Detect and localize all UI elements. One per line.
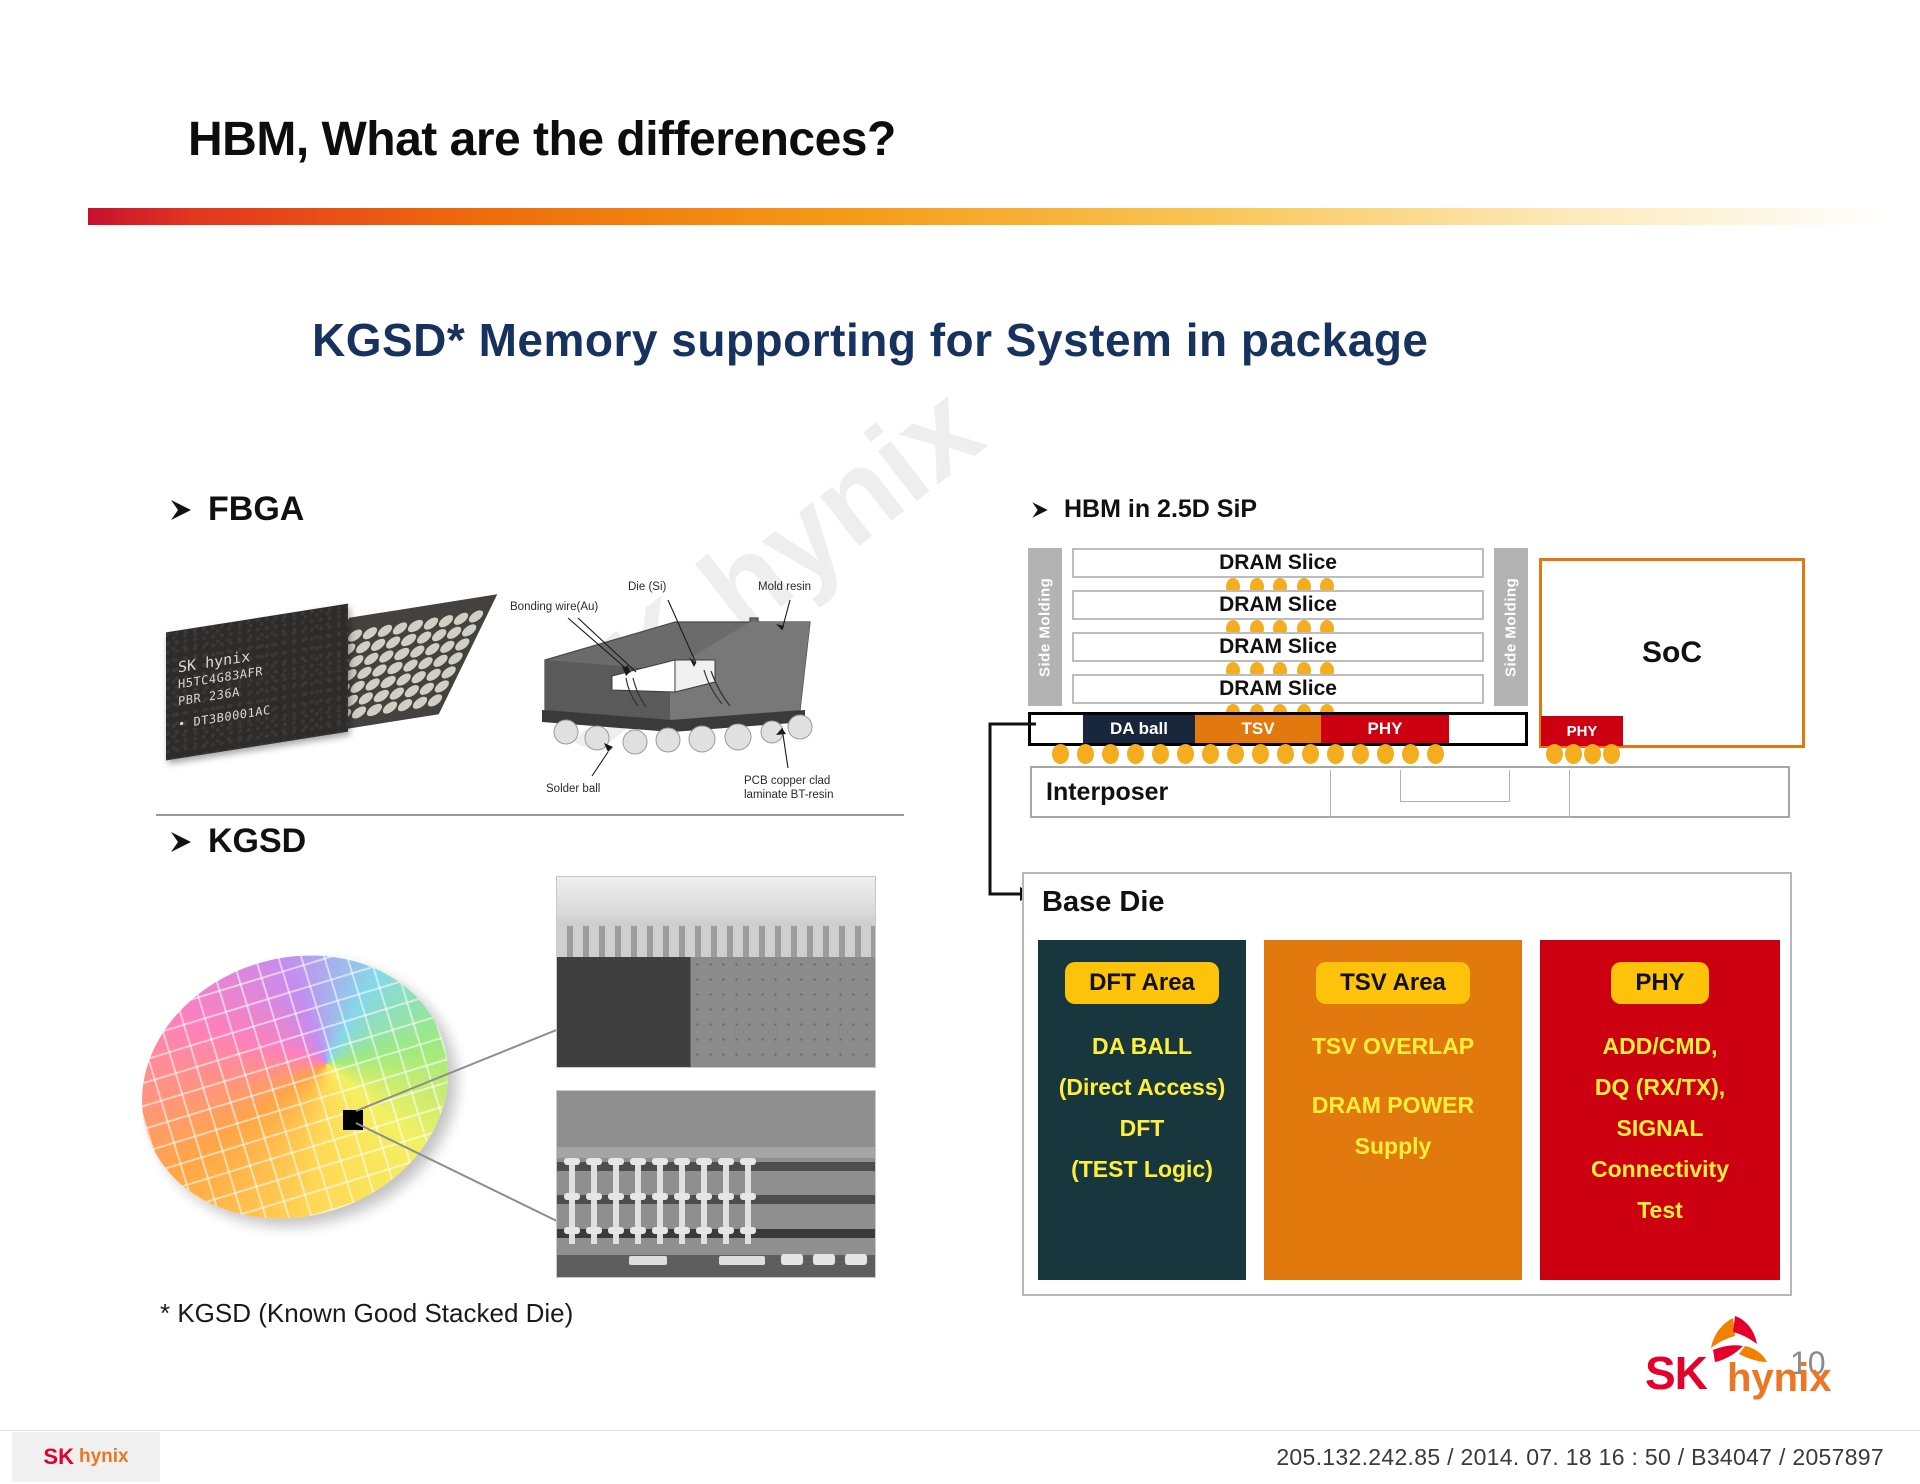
base-die-strip: DA ball TSV PHY bbox=[1028, 712, 1528, 746]
base-die-body-phy: ADD/CMD, DQ (RX/TX), SIGNAL Connectivity… bbox=[1591, 1026, 1729, 1231]
side-molding-right: Side Molding bbox=[1494, 548, 1528, 706]
bd-line: DFT bbox=[1059, 1108, 1226, 1149]
base-die-column-tsv: TSV Area TSV OVERLAP DRAM POWER Supply bbox=[1264, 940, 1522, 1280]
hbm-stack-diagram: Side Molding Side Molding DRAM Slice DRA… bbox=[1028, 548, 1528, 708]
sk-hynix-logo: SK hynix bbox=[1645, 1320, 1825, 1396]
bd-line: Test bbox=[1591, 1190, 1729, 1231]
bullet-hbm-label: HBM in 2.5D SiP bbox=[1064, 495, 1257, 524]
bd-line: DRAM POWER bbox=[1312, 1085, 1474, 1126]
bullet-kgsd: KGSD bbox=[168, 822, 306, 861]
bd-line: (Direct Access) bbox=[1059, 1067, 1226, 1108]
chevron-right-icon bbox=[168, 829, 194, 855]
strip-blank-right bbox=[1449, 715, 1525, 743]
logo-sk-text: SK bbox=[1645, 1346, 1707, 1400]
wafer-photo bbox=[140, 958, 460, 1238]
bd-line: Supply bbox=[1312, 1126, 1474, 1167]
dram-slice: DRAM Slice bbox=[1072, 674, 1484, 704]
bullet-kgsd-label: KGSD bbox=[208, 822, 306, 861]
base-die-column-phy: PHY ADD/CMD, DQ (RX/TX), SIGNAL Connecti… bbox=[1540, 940, 1780, 1280]
bd-line: DQ (RX/TX), bbox=[1591, 1067, 1729, 1108]
label-solder-ball: Solder ball bbox=[546, 783, 600, 795]
strip-tsv: TSV bbox=[1195, 715, 1321, 743]
bd-line: TSV OVERLAP bbox=[1312, 1026, 1474, 1067]
side-molding-left: Side Molding bbox=[1028, 548, 1062, 706]
soc-label: SoC bbox=[1642, 636, 1702, 670]
base-die-chip-phy: PHY bbox=[1611, 962, 1708, 1004]
soc-microbump-row bbox=[1546, 744, 1620, 764]
section-divider bbox=[156, 814, 904, 816]
label-die-si: Die (Si) bbox=[628, 581, 667, 593]
bd-line: ADD/CMD, bbox=[1591, 1026, 1729, 1067]
bullet-fbga-label: FBGA bbox=[208, 490, 304, 529]
interposer-label: Interposer bbox=[1046, 778, 1168, 807]
label-pcb-line1: PCB copper clad bbox=[744, 775, 830, 787]
slide-subtitle: KGSD* Memory supporting for System in pa… bbox=[312, 313, 1429, 367]
logo-hynix-text: hynix bbox=[1727, 1356, 1831, 1401]
chevron-right-icon bbox=[168, 497, 194, 523]
footnote: * KGSD (Known Good Stacked Die) bbox=[160, 1298, 573, 1329]
bd-line: SIGNAL bbox=[1591, 1108, 1729, 1149]
fbga-cutaway-diagram: Bonding wire(Au) Die (Si) Mold resin Sol… bbox=[500, 560, 920, 810]
wafer-disc bbox=[109, 918, 481, 1255]
bullet-hbm: HBM in 2.5D SiP bbox=[1030, 495, 1257, 524]
dram-slice: DRAM Slice bbox=[1072, 548, 1484, 578]
label-bonding-wire: Bonding wire(Au) bbox=[510, 601, 598, 613]
footer-logo-hynix: hynix bbox=[79, 1446, 129, 1468]
bullet-fbga: FBGA bbox=[168, 490, 304, 529]
bd-line: Connectivity bbox=[1591, 1149, 1729, 1190]
chevron-right-icon bbox=[1030, 500, 1050, 520]
wafer-highlighted-die bbox=[343, 1110, 363, 1130]
title-divider-rule bbox=[88, 208, 1888, 225]
soc-phy-block: PHY bbox=[1541, 716, 1623, 746]
fbga-package-photo: SK hynix H5TC4G83AFR PBR 236A • DT3B0001… bbox=[160, 588, 470, 768]
base-die-chip-dft: DFT Area bbox=[1065, 962, 1219, 1004]
bd-line: DA BALL bbox=[1059, 1026, 1226, 1067]
dram-slice: DRAM Slice bbox=[1072, 632, 1484, 662]
base-die-column-dft: DFT Area DA BALL (Direct Access) DFT (TE… bbox=[1038, 940, 1246, 1280]
label-pcb-line2: laminate BT-resin bbox=[744, 789, 833, 801]
interposer-trace-2 bbox=[1330, 770, 1570, 818]
sem-image-tsv-cross-section bbox=[556, 1090, 876, 1278]
sem-image-stack-edge bbox=[556, 876, 876, 1068]
microbump-row bbox=[1052, 744, 1444, 764]
strip-phy: PHY bbox=[1321, 715, 1449, 743]
dram-slice: DRAM Slice bbox=[1072, 590, 1484, 620]
bd-line: (TEST Logic) bbox=[1059, 1149, 1226, 1190]
base-die-panel: Base Die DFT Area DA BALL (Direct Access… bbox=[1022, 872, 1792, 1296]
label-mold-resin: Mold resin bbox=[758, 581, 811, 593]
footer-logo: SK hynix bbox=[12, 1432, 160, 1482]
base-die-body-tsv: TSV OVERLAP DRAM POWER Supply bbox=[1312, 1026, 1474, 1167]
base-die-body-dft: DA BALL (Direct Access) DFT (TEST Logic) bbox=[1059, 1026, 1226, 1190]
footer-logo-sk: SK bbox=[43, 1444, 74, 1470]
base-die-title: Base Die bbox=[1042, 886, 1165, 919]
strip-da-ball: DA ball bbox=[1083, 715, 1195, 743]
footer-metadata: 205.132.242.85 / 2014. 07. 18 16 : 50 / … bbox=[1276, 1444, 1884, 1471]
page-title: HBM, What are the differences? bbox=[188, 112, 896, 167]
base-die-chip-tsv: TSV Area bbox=[1316, 962, 1470, 1004]
